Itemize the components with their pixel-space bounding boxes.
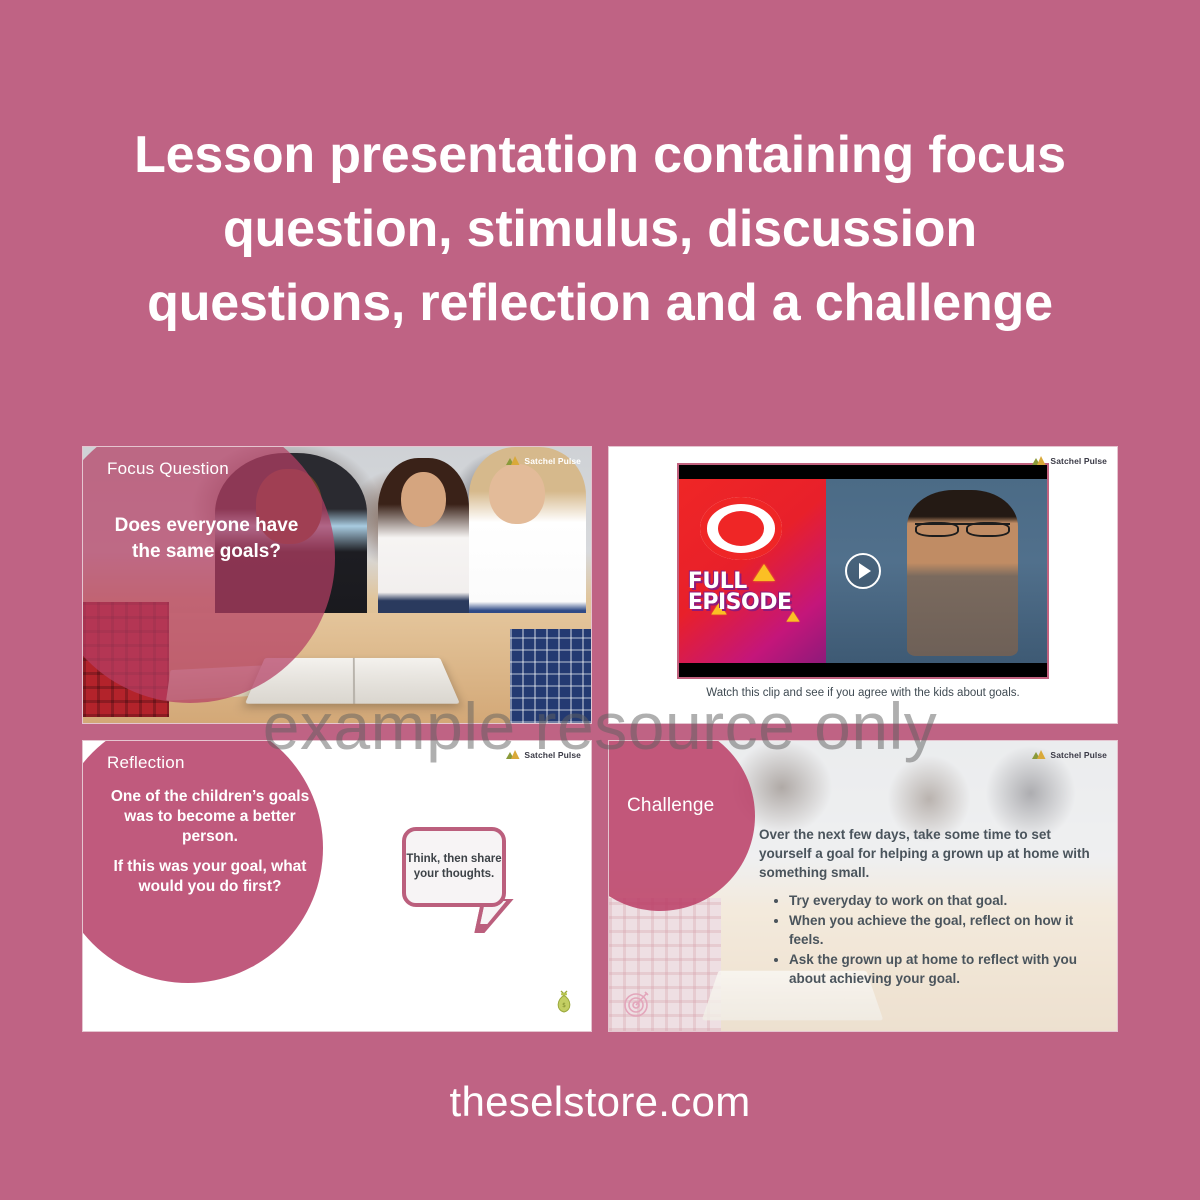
slide-reflection[interactable]: Satchel Pulse Reflection One of the chil…: [82, 740, 592, 1032]
target-dart-icon: [623, 988, 653, 1023]
slide-kicker-reflection: Reflection: [107, 753, 185, 773]
student-girl-face: [401, 472, 447, 527]
reflection-paragraph-2: If this was your goal, what would you do…: [105, 857, 315, 897]
speech-bubble: Think, then share your thoughts.: [402, 827, 506, 907]
badge-line-1: FULL: [688, 571, 823, 592]
list-item: When you achieve the goal, reflect on ho…: [789, 911, 1103, 949]
broadcaster-logo-icon: [700, 497, 782, 560]
challenge-bullet-list: Try everyday to work on that goal. When …: [759, 891, 1103, 988]
play-icon[interactable]: [845, 553, 881, 589]
video-child-glasses: [915, 523, 1011, 536]
svg-text:$: $: [562, 1002, 566, 1009]
money-bag-icon: $: [553, 988, 575, 1019]
stimulus-caption: Watch this clip and see if you agree wit…: [609, 687, 1117, 699]
satchel-pulse-logo: Satchel Pulse: [1031, 455, 1107, 466]
list-item: Ask the grown up at home to reflect with…: [789, 950, 1103, 988]
footer-url: theselstore.com: [0, 1078, 1200, 1126]
slide-grid: Focus Question Does everyone have the sa…: [82, 446, 1118, 1032]
satchel-pulse-logo: Satchel Pulse: [505, 455, 581, 466]
full-episode-label: FULL EPISODE: [688, 571, 823, 613]
list-item: Try everyday to work on that goal.: [789, 891, 1103, 910]
reflection-paragraph-1: One of the children’s goals was to becom…: [105, 787, 315, 847]
mountain-icon: [1031, 749, 1046, 760]
mountain-icon: [505, 749, 520, 760]
reflection-text: One of the children’s goals was to becom…: [105, 787, 315, 897]
slide-kicker-challenge: Challenge: [627, 795, 714, 817]
challenge-intro: Over the next few days, take some time t…: [759, 825, 1103, 882]
slide-focus-question[interactable]: Focus Question Does everyone have the sa…: [82, 446, 592, 724]
video-player[interactable]: FULL EPISODE: [677, 463, 1049, 679]
brand-name: Satchel Pulse: [1050, 456, 1107, 466]
brand-name: Satchel Pulse: [1050, 750, 1107, 760]
slide-kicker-focus-question: Focus Question: [107, 459, 229, 479]
badge-line-2: EPISODE: [688, 592, 823, 613]
brand-name: Satchel Pulse: [524, 750, 581, 760]
satchel-pulse-logo: Satchel Pulse: [1031, 749, 1107, 760]
video-child-figure: [907, 490, 1017, 656]
brand-name: Satchel Pulse: [524, 456, 581, 466]
challenge-text: Over the next few days, take some time t…: [759, 825, 1103, 989]
tartan-skirt-right: [510, 629, 591, 723]
mountain-icon: [1031, 455, 1046, 466]
full-episode-badge: FULL EPISODE: [679, 479, 826, 663]
mountain-icon: [505, 455, 520, 466]
video-thumbnail: FULL EPISODE: [679, 479, 1047, 663]
slide-challenge[interactable]: Satchel Pulse Challenge Over the next fe…: [608, 740, 1118, 1032]
focus-question-text: Does everyone have the same goals?: [109, 513, 304, 565]
satchel-pulse-logo: Satchel Pulse: [505, 749, 581, 760]
page-title: Lesson presentation containing focus que…: [0, 118, 1200, 340]
student-girl2-face: [489, 464, 545, 525]
slide-stimulus[interactable]: Satchel Pulse FULL EPISODE Wat: [608, 446, 1118, 724]
speech-bubble-text: Think, then share your thoughts.: [406, 852, 502, 882]
